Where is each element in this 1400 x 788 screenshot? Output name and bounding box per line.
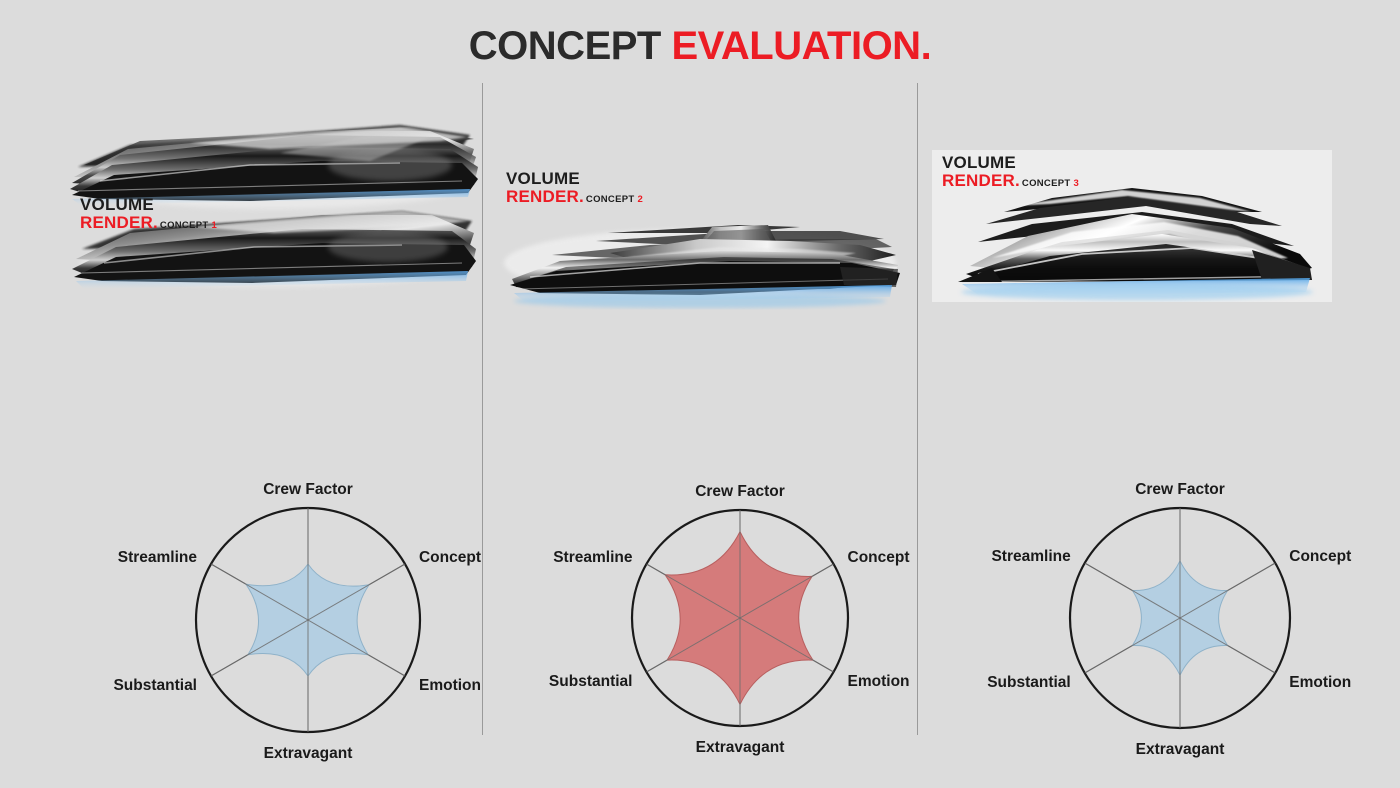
radar-axis-label: Crew Factor: [263, 481, 353, 498]
yacht-sketch-concept-2: [500, 205, 905, 325]
caption-concept-number: CONCEPT 1: [160, 220, 217, 231]
caption-concept-digit: 2: [637, 194, 643, 205]
caption-volume-label: VOLUME: [506, 170, 643, 188]
radar-axis-label: Substantial: [987, 674, 1071, 691]
concept-1-radar: Crew FactorConceptEmotionExtravagantSubs…: [96, 408, 520, 788]
radar-axis-label: Concept: [419, 549, 481, 566]
caption-concept-word: CONCEPT: [1022, 178, 1071, 189]
presentation-board: CONCEPT EVALUATION.: [0, 0, 1400, 788]
radar-axis-label: Emotion: [419, 677, 481, 694]
radar-axis-label: Concept: [848, 549, 910, 566]
radar-axis-label: Concept: [1289, 548, 1351, 565]
caption-concept-2: VOLUME RENDER.CONCEPT 2: [506, 170, 643, 207]
page-title-dark: CONCEPT: [469, 24, 661, 68]
concept-2-radar: Crew FactorConceptEmotionExtravagantSubs…: [532, 410, 948, 788]
caption-volume-label: VOLUME: [942, 154, 1079, 172]
caption-render-line: RENDER.CONCEPT 3: [942, 172, 1079, 190]
caption-concept-digit: 1: [211, 220, 217, 231]
caption-concept-digit: 3: [1073, 178, 1079, 189]
radar-axis-label: Extravagant: [264, 745, 353, 762]
concept-3-radar: Crew FactorConceptEmotionExtravagantSubs…: [970, 408, 1390, 788]
caption-concept-1: VOLUME RENDER.CONCEPT 1: [80, 196, 217, 233]
caption-concept-number: CONCEPT 3: [1022, 178, 1079, 189]
radar-axis-label: Extravagant: [1136, 741, 1225, 758]
radar-axis-label: Crew Factor: [1135, 481, 1225, 498]
caption-concept-word: CONCEPT: [160, 220, 209, 231]
caption-render-line: RENDER.CONCEPT 1: [80, 214, 217, 232]
caption-render-line: RENDER.CONCEPT 2: [506, 188, 643, 206]
radar-axis-label: Emotion: [848, 673, 910, 690]
caption-render-label: RENDER.: [942, 171, 1020, 190]
page-title-red: EVALUATION.: [672, 24, 932, 68]
caption-concept-word: CONCEPT: [586, 194, 635, 205]
radar-axis-label: Streamline: [118, 549, 198, 566]
radar-axis-label: Crew Factor: [695, 483, 785, 500]
caption-volume-label: VOLUME: [80, 196, 217, 214]
caption-concept-number: CONCEPT 2: [586, 194, 643, 205]
radar-axis-label: Substantial: [113, 677, 197, 694]
radar-axis-label: Substantial: [549, 673, 633, 690]
caption-render-label: RENDER.: [80, 213, 158, 232]
radar-axis-label: Extravagant: [696, 739, 785, 756]
caption-render-label: RENDER.: [506, 187, 584, 206]
page-title: CONCEPT EVALUATION.: [0, 26, 1400, 66]
caption-concept-3: VOLUME RENDER.CONCEPT 3: [942, 154, 1079, 191]
radar-axis-label: Streamline: [553, 549, 633, 566]
radar-axis-label: Streamline: [991, 548, 1071, 565]
radar-axis-label: Emotion: [1289, 674, 1351, 691]
